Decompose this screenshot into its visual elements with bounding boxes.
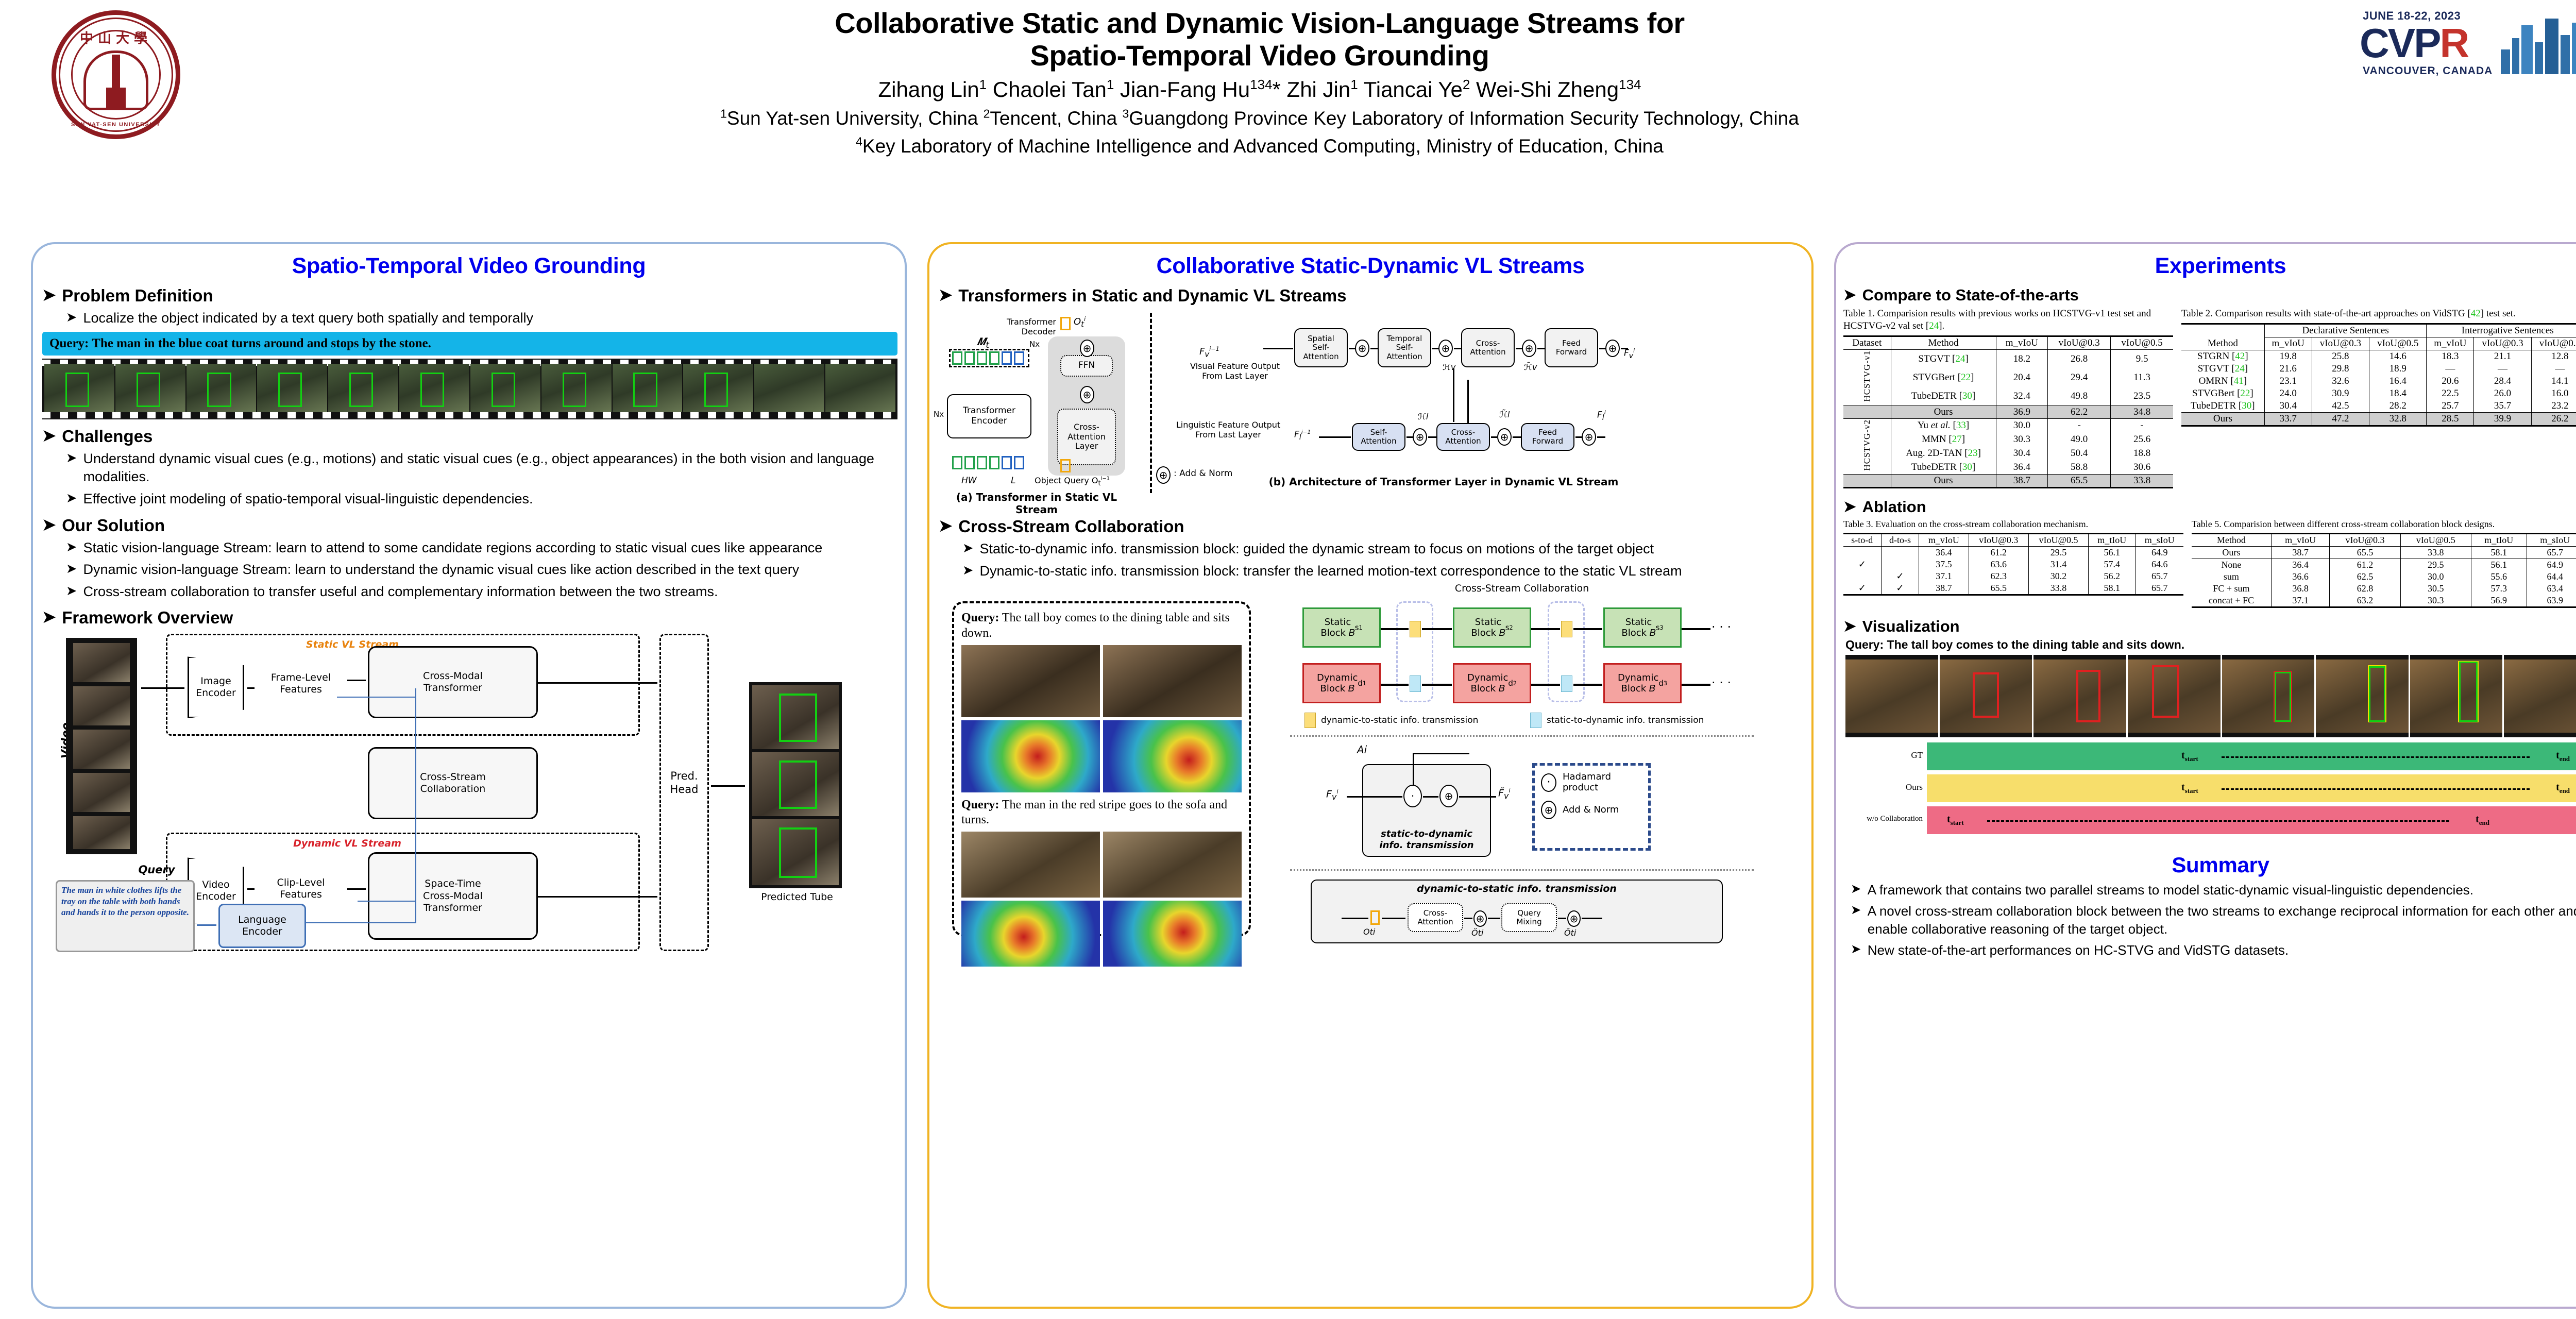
author-list: Zihang Lin1 Chaolei Tan1 Jian-Fang Hu134…: [392, 77, 2128, 103]
arrow-bullet-icon: ➤: [1851, 941, 1861, 958]
linguistic-feed-forward-block: FeedForward: [1521, 423, 1574, 451]
vis-row-frame: [2504, 655, 2576, 737]
arrow-bullet-icon: ➤: [66, 539, 77, 556]
visualization-panel: Query: The tall boy comes to the dining …: [1845, 638, 2576, 834]
dynamic-block-2: DynamicBlock 𝐵d2: [1453, 663, 1531, 703]
table-row: Ours36.962.234.8: [1843, 405, 2173, 418]
add-norm-icon-2: ⊕: [1080, 386, 1094, 403]
object-query-symbol: Oti: [1074, 316, 1086, 329]
s2d-chip-2: [1561, 675, 1572, 692]
poster-title-line2: Spatio-Temporal Video Grounding: [392, 40, 2128, 72]
query-bar: Query: The man in the blue coat turns ar…: [42, 332, 897, 356]
s2d-chip-1: [1410, 675, 1421, 692]
table-row: HCSTVG-v1 STGVT [24]18.226.89.5: [1843, 349, 2173, 368]
qualitative-attention-panel: Query: The tall boy comes to the dining …: [952, 601, 1251, 936]
table3-header-row: s-to-d d-to-s m_vIoU vIoU@0.3 vIoU@0.5 m…: [1843, 533, 2183, 546]
visual-feed-forward-block: FeedForward: [1545, 328, 1598, 367]
l-label: L: [1011, 476, 1015, 486]
col2-heading: Collaborative Static-Dynamic VL Streams: [929, 244, 1811, 279]
vis-frame-3: [961, 832, 1100, 898]
visualization-query: Query: The tall boy comes to the dining …: [1845, 638, 2576, 652]
cvpr-venue: VANCOUVER, CANADA: [2363, 65, 2493, 77]
arrow-bullet-icon: ➤: [42, 516, 56, 534]
table2-group-header-row: Declarative Sentences Interrogative Sent…: [2181, 324, 2576, 337]
d2s-chip-2: [1561, 621, 1572, 637]
visual-cross-attention-block: Cross-Attention: [1461, 328, 1515, 367]
cross-stream-collaboration-block: Cross-StreamCollaboration: [368, 747, 538, 819]
transformer-decoder-label: TransformerDecoder: [963, 317, 1056, 336]
add-norm-icon-b7: ⊕: [1582, 428, 1596, 446]
s2d-input-symbol: Fvi: [1326, 788, 1338, 802]
arrow-bullet-icon: ➤: [1843, 286, 1856, 304]
table3: s-to-d d-to-s m_vIoU vIoU@0.3 vIoU@0.5 m…: [1843, 533, 2183, 596]
mt-symbol: 𝑴t: [977, 335, 989, 350]
poster-header: 中山大學 SUN YAT-SEN UNIVERSITY Collaborativ…: [0, 0, 2576, 227]
fv-input-symbol: Fvi−1: [1199, 346, 1219, 359]
language-encoder-block: LanguageEncoder: [218, 904, 306, 948]
hl-tilde-symbol: ℋ̃l: [1499, 410, 1510, 419]
add-norm-legend-text: : Add & Norm: [1174, 468, 1232, 479]
legend-static-to-dynamic: static-to-dynamic info. transmission: [1530, 713, 1704, 728]
d2s-input-token-icon: [1370, 910, 1380, 925]
object-query-caption: Object Query Oti−1: [1035, 476, 1110, 487]
pred-head-label: Pred.Head: [660, 770, 708, 796]
challenges-bullet-1: ➤ Effective joint modeling of spatio-tem…: [66, 490, 905, 509]
table1-caption: Table 1. Comparision results with previo…: [1843, 308, 2173, 332]
timeline-label-ours: Ours: [1845, 782, 1923, 792]
query-mixing-block: QueryMixing: [1501, 903, 1557, 932]
ablation-heading: ➤ Ablation: [1843, 498, 2576, 516]
table2-wrap: Table 2. Comparison results with state-o…: [2181, 308, 2576, 488]
challenges-heading: ➤ Challenges: [42, 427, 905, 446]
logo-university-name: SUN YAT-SEN UNIVERSITY: [52, 122, 180, 128]
fv-output-symbol: Fvi: [1624, 348, 1635, 360]
column-experiments: Experiments ➤ Compare to State-of-the-ar…: [1834, 242, 2576, 1309]
cross-stream-block-diagram: Cross-Stream Collaboration StaticBlock 𝐵…: [1280, 583, 1800, 943]
our-solution-heading: ➤ Our Solution: [42, 516, 905, 535]
add-norm-icon-1: ⊕: [1080, 340, 1094, 357]
arrow-bullet-icon: ➤: [939, 517, 952, 535]
framework-overview-diagram: Video Static VL Stream ImageEncoder Fram…: [48, 631, 888, 960]
arrow-bullet-icon: ➤: [66, 450, 77, 467]
vis-frame-1: [961, 645, 1100, 717]
static-to-dynamic-block: static-to-dynamicinfo. transmission: [1362, 764, 1491, 857]
hadamard-product-icon: ·: [1403, 785, 1422, 807]
table-row: None36.461.229.556.164.9: [2192, 559, 2576, 571]
affiliation-line2: 4Key Laboratory of Machine Intelligence …: [392, 134, 2128, 159]
vis-heatmap-2: [1103, 720, 1242, 792]
add-norm-icon-b6: ⊕: [1497, 428, 1512, 446]
dynamic-block-1: DynamicBlock 𝐵d1: [1302, 663, 1381, 703]
vis-frame-4: [1103, 832, 1242, 898]
problem-definition-bullet: ➤ Localize the object indicated by a tex…: [66, 309, 905, 328]
solution-bullet-0: ➤ Static vision-language Stream: learn t…: [66, 539, 905, 557]
table5-wrap: Table 5. Comparision between different c…: [2192, 518, 2576, 608]
clip-level-features-label: Clip-LevelFeatures: [255, 877, 347, 901]
solution-bullet-1: ➤ Dynamic vision-language Stream: learn …: [66, 561, 905, 579]
d2s-cross-attention-block: Cross-Attention: [1408, 903, 1463, 932]
transformers-heading: ➤ Transformers in Static and Dynamic VL …: [939, 286, 1811, 306]
predicted-tube-label: Predicted Tube: [743, 891, 851, 903]
table1: Dataset Method m_vIoU vIoU@0.3 vIoU@0.5 …: [1843, 335, 2173, 488]
arrow-bullet-icon: ➤: [66, 583, 77, 600]
static-block-1: StaticBlock 𝐵s1: [1302, 607, 1381, 648]
cross-stream-collaboration-heading: ➤ Cross-Stream Collaboration: [939, 517, 1811, 536]
vis-row-frame: [1845, 655, 1938, 737]
attention-map-symbol: Ai: [1357, 743, 1367, 756]
arrow-bullet-icon: ➤: [962, 562, 973, 580]
timeline-label-gt: GT: [1845, 750, 1923, 760]
image-encoder-block: ImageEncoder: [188, 656, 244, 718]
table1-wrap: Table 1. Comparision results with previo…: [1843, 308, 2173, 488]
table-row: ✓37.563.631.457.464.6: [1843, 559, 2183, 570]
fl-output-symbol: Fli: [1597, 410, 1606, 422]
dynamic-ellipsis: · · ·: [1711, 675, 1731, 690]
summary-bullet-1: ➤ A novel cross-stream collaboration blo…: [1851, 902, 2576, 938]
arrow-bullet-icon: ➤: [1851, 902, 1861, 919]
table-row: sum36.662.530.055.664.4: [2192, 571, 2576, 583]
space-time-cross-modal-transformer-block: Space-TimeCross-ModalTransformer: [368, 852, 538, 940]
figure-b-caption: (b) Architecture of Transformer Layer in…: [1243, 476, 1645, 488]
static-ellipsis: · · ·: [1711, 620, 1731, 634]
query-text-box: The man in white clothes lifts the tray …: [56, 880, 195, 952]
s2d-output-symbol: F̃vi: [1498, 787, 1511, 801]
arrow-bullet-icon: ➤: [962, 540, 973, 557]
cross-attention-layer-block: Cross-AttentionLayer: [1057, 409, 1116, 465]
add-norm-icon-b1: ⊕: [1355, 340, 1369, 357]
d2s-output-symbol: Õti: [1564, 928, 1576, 938]
table3-caption: Table 3. Evaluation on the cross-stream …: [1843, 518, 2183, 530]
timeline-row-wo-collab: w/o Collaboration tstart tend: [1845, 804, 2576, 834]
video-filmstrip: [42, 359, 897, 419]
table-row: Ours33.747.232.828.539.926.2: [2181, 412, 2576, 426]
visualization-heading: ➤ Visualization: [1843, 617, 2576, 636]
col1-heading: Spatio-Temporal Video Grounding: [33, 244, 905, 279]
vis-heatmap-4: [1103, 901, 1242, 967]
table3-wrap: Table 3. Evaluation on the cross-stream …: [1843, 518, 2183, 608]
hv-tilde-symbol: ℋ̃v: [1524, 362, 1537, 372]
col3-heading: Experiments: [1836, 244, 2576, 279]
compare-sota-heading: ➤ Compare to State-of-the-arts: [1843, 286, 2576, 305]
divider-2: [1290, 869, 1754, 871]
table-row: MMN [27]30.349.025.6: [1843, 432, 2173, 446]
table-row: TubeDETR [30]30.442.528.225.735.723.2: [2181, 400, 2576, 413]
summary-bullet-0: ➤ A framework that contains two parallel…: [1851, 881, 2576, 899]
arrow-bullet-icon: ➤: [66, 490, 77, 508]
table-row: Ours38.765.533.858.165.7: [2192, 546, 2576, 559]
table-row: STVGBert [22]24.030.918.422.526.016.0: [2181, 387, 2576, 400]
solution-bullet-2: ➤ Cross-stream collaboration to transfer…: [66, 583, 905, 601]
table-row: concat + FC37.163.230.356.963.9: [2192, 595, 2576, 607]
timeline-label-wo-collab: w/o Collaboration: [1845, 815, 1923, 823]
add-norm-icon-b3: ⊕: [1522, 340, 1536, 357]
transformer-figures: TransformerDecoder Oti Nx FFN Cross-Atte…: [934, 308, 1809, 514]
decoder-nx-label: Nx: [1029, 340, 1040, 349]
table-row: TubeDETR [30]36.458.830.6: [1843, 460, 2173, 474]
vis-heatmap-1: [961, 720, 1100, 792]
figure-divider: [1150, 313, 1152, 493]
table-row: ✓37.162.330.256.265.7: [1843, 570, 2183, 582]
static-block-3: StaticBlock 𝐵s3: [1603, 607, 1682, 648]
add-norm-icon-b2: ⊕: [1438, 340, 1453, 357]
arrow-bullet-icon: ➤: [939, 286, 952, 305]
arrow-bullet-icon: ➤: [66, 309, 77, 327]
col2-lower-area: Query: The tall boy comes to the dining …: [929, 583, 1811, 943]
table-row: HCSTVG-v2 Yu et al. [33]30.0--: [1843, 418, 2173, 432]
table2-header-row: Method m_vIoU vIoU@0.3 vIoU@0.5 m_vIoU v…: [2181, 337, 2576, 350]
column-spatio-temporal-video-grounding: Spatio-Temporal Video Grounding ➤ Proble…: [31, 242, 907, 1309]
summary-heading: Summary: [1836, 843, 2576, 877]
ffn-block: FFN: [1060, 355, 1113, 377]
cvpr-badge: JUNE 18-22, 2023 CVPR VANCOUVER, CANADA: [2360, 7, 2576, 84]
table-row: FC + sum36.862.830.557.363.4: [2192, 583, 2576, 595]
vis-row-frame: [2222, 655, 2315, 737]
add-norm-icon-s2d: ⊕: [1439, 785, 1458, 807]
arrow-bullet-icon: ➤: [1843, 617, 1856, 635]
math-legend-box: · Hadamardproduct ⊕ Add & Norm: [1532, 763, 1651, 851]
arrow-bullet-icon: ➤: [42, 608, 56, 627]
framework-overview-heading: ➤ Framework Overview: [42, 608, 905, 628]
arrow-bullet-icon: ➤: [66, 561, 77, 578]
d2s-mid-symbol: Öti: [1471, 928, 1483, 938]
query-label: Query: [105, 864, 208, 876]
vis-heatmap-3: [961, 901, 1100, 967]
problem-definition-heading: ➤ Problem Definition: [42, 286, 905, 306]
table-row: ✓✓38.765.533.858.165.7: [1843, 582, 2183, 595]
tables-3-5-row: Table 3. Evaluation on the cross-stream …: [1843, 518, 2576, 608]
figure-a-caption: (a) Transformer in Static VL Stream: [944, 491, 1129, 516]
summary-bullet-2: ➤ New state-of-the-art performances on H…: [1851, 941, 2576, 959]
table-row: Ours38.765.533.8: [1843, 475, 2173, 488]
divider-1: [1290, 735, 1754, 737]
table2-caption: Table 2. Comparison results with state-o…: [2181, 308, 2576, 320]
table5: Method m_vIoU vIoU@0.3 vIoU@0.5 m_tIoU m…: [2192, 533, 2576, 608]
add-norm-legend-icon: ⊕: [1156, 466, 1171, 484]
legend-yellow-swatch: [1304, 713, 1316, 728]
vis-row-frame: [2033, 655, 2126, 737]
table5-caption: Table 5. Comparision between different c…: [2192, 518, 2576, 530]
vis-row-frame: [1940, 655, 2032, 737]
static-block-2: StaticBlock 𝐵s2: [1453, 607, 1531, 648]
linguistic-self-attention-block: Self-Attention: [1352, 423, 1405, 451]
table-row: STVGBert [22]20.429.411.3: [1843, 368, 2173, 387]
temporal-self-attention-block: TemporalSelf-Attention: [1378, 328, 1431, 367]
title-block: Collaborative Static and Dynamic Vision-…: [392, 7, 2128, 159]
spatial-self-attention-block: SpatialSelf-Attention: [1294, 328, 1348, 367]
linguistic-feature-input-desc: Linguistic Feature OutputFrom Last Layer: [1166, 420, 1290, 439]
encoder-input-tokens: [952, 456, 1026, 471]
timeline-row-gt: GT tstart tend: [1845, 740, 2576, 770]
add-norm-icon-b5: ⊕: [1413, 428, 1427, 446]
cross-stream-bullet-0: ➤ Static-to-dynamic info. transmission b…: [962, 540, 1811, 559]
table-row: STGVT [24]21.629.818.9———: [2181, 363, 2576, 375]
cross-stream-collab-diagram-title: Cross-Stream Collaboration: [1414, 583, 1630, 594]
arrow-bullet-icon: ➤: [1843, 498, 1856, 516]
object-query-input-token-icon: [1060, 459, 1071, 472]
table-row: OMRN [41]23.132.616.420.628.414.1: [2181, 375, 2576, 387]
arrow-bullet-icon: ➤: [42, 286, 56, 305]
cross-modal-transformer-block: Cross-ModalTransformer: [368, 646, 538, 718]
mt-tokens: [952, 351, 1026, 367]
table2: Declarative Sentences Interrogative Sent…: [2181, 323, 2576, 427]
arrow-bullet-icon: ➤: [42, 427, 56, 445]
challenges-bullet-0: ➤ Understand dynamic visual cues (e.g., …: [66, 450, 905, 486]
legend-dynamic-to-static: dynamic-to-static info. transmission: [1304, 713, 1478, 728]
logo-chinese-name: 中山大學: [52, 28, 180, 47]
vis-query-1: Query: The tall boy comes to the dining …: [961, 611, 1242, 641]
column-collaborative-static-dynamic-vl-streams: Collaborative Static-Dynamic VL Streams …: [927, 242, 1814, 1309]
fl-input-symbol: Fli−1: [1294, 429, 1311, 442]
linguistic-cross-attention-block: Cross-Attention: [1436, 423, 1490, 451]
cross-stream-bullet-1: ➤ Dynamic-to-static info. transmission b…: [962, 562, 1811, 581]
object-query-token-icon: [1060, 317, 1071, 330]
dynamic-stream-label: Dynamic VL Stream: [265, 838, 430, 850]
transformer-encoder-block: TransformerEncoder: [947, 394, 1031, 438]
table5-header-row: Method m_vIoU vIoU@0.3 vIoU@0.5 m_tIoU m…: [2192, 533, 2576, 546]
vis-row-frame: [2128, 655, 2221, 737]
table-row: STGRN [42]19.825.814.618.321.112.8: [2181, 350, 2576, 363]
university-logo: 中山大學 SUN YAT-SEN UNIVERSITY: [52, 10, 180, 139]
hl-symbol: ℋl: [1418, 412, 1428, 421]
vis-query-2: Query: The man in the red stripe goes to…: [961, 798, 1242, 828]
dynamic-block-3: DynamicBlock 𝐵d3: [1603, 663, 1682, 703]
visual-feature-input-desc: Visual Feature OutputFrom Last Layer: [1176, 361, 1294, 381]
table1-header-row: Dataset Method m_vIoU vIoU@0.3 vIoU@0.5: [1843, 336, 2173, 349]
add-norm-icon-b4: ⊕: [1605, 340, 1620, 357]
d2s-chip-1: [1410, 621, 1421, 637]
visualization-filmstrip: [1845, 655, 2576, 737]
table-row: TubeDETR [30]32.449.823.5: [1843, 387, 2173, 405]
encoder-nx-label: Nx: [934, 410, 944, 419]
d2s-input-symbol: Oti: [1363, 927, 1375, 937]
vis-frame-2: [1103, 645, 1242, 717]
table-row: 36.461.229.556.164.9: [1843, 546, 2183, 559]
frame-level-features-label: Frame-LevelFeatures: [255, 672, 347, 696]
vancouver-skyline-icon: [2499, 12, 2576, 74]
timeline-row-ours: Ours tstart tend: [1845, 772, 2576, 802]
tables-1-2-row: Table 1. Comparision results with previo…: [1843, 308, 2576, 488]
hw-label: HW: [961, 476, 977, 486]
poster-title-line1: Collaborative Static and Dynamic Vision-…: [392, 7, 2128, 40]
cvpr-wordmark: CVPR: [2360, 20, 2468, 67]
addnorm-legend-icon: ⊕: [1541, 801, 1556, 819]
table-row: Aug. 2D-TAN [23]30.450.418.8: [1843, 446, 2173, 460]
vis-row-frame: [2316, 655, 2409, 737]
legend-cyan-swatch: [1530, 713, 1541, 728]
affiliation-line1: 1Sun Yat-sen University, China 2Tencent,…: [392, 106, 2128, 131]
arrow-bullet-icon: ➤: [1851, 881, 1861, 898]
hadamard-legend-icon: ·: [1541, 773, 1556, 792]
vis-row-frame: [2410, 655, 2503, 737]
